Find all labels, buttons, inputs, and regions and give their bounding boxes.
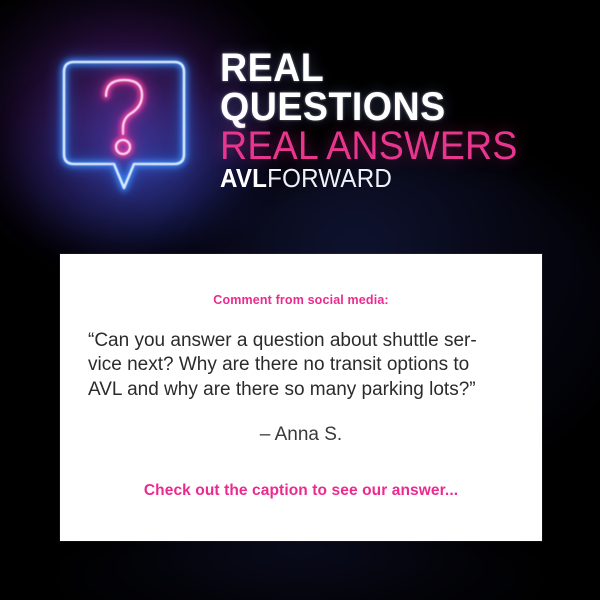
avl-logo-bold-part: AVL xyxy=(220,163,267,193)
quote-card: Comment from social media: “Can you answ… xyxy=(60,254,542,541)
quote-attribution: – Anna S. xyxy=(60,424,542,446)
quote-line: “Can you answer a question about shuttle… xyxy=(88,329,514,353)
avl-forward-logo: AVLFORWARD xyxy=(220,163,392,194)
headline-lockup: REAL QUESTIONS REAL ANSWERS xyxy=(220,50,560,164)
quote-line: vice next? Why are there no transit opti… xyxy=(88,353,514,377)
headline-line-real-answers: REAL ANSWERS xyxy=(220,128,540,165)
quote-text: “Can you answer a question about shuttle… xyxy=(88,329,514,402)
comment-source-label: Comment from social media: xyxy=(60,293,542,307)
caption-call-to-action: Check out the caption to see our answer.… xyxy=(60,482,542,500)
speech-bubble-icon xyxy=(48,48,200,200)
quote-line: AVL and why are there so many parking lo… xyxy=(88,378,514,402)
neon-speech-bubble-sign xyxy=(48,48,200,200)
headline-line-real: REAL xyxy=(220,50,540,87)
avl-logo-light-part: FORWARD xyxy=(267,163,392,193)
social-post-canvas: REAL QUESTIONS REAL ANSWERS AVLFORWARD C… xyxy=(0,0,600,600)
question-mark-icon xyxy=(106,80,142,154)
headline-line-questions: QUESTIONS xyxy=(220,89,540,126)
